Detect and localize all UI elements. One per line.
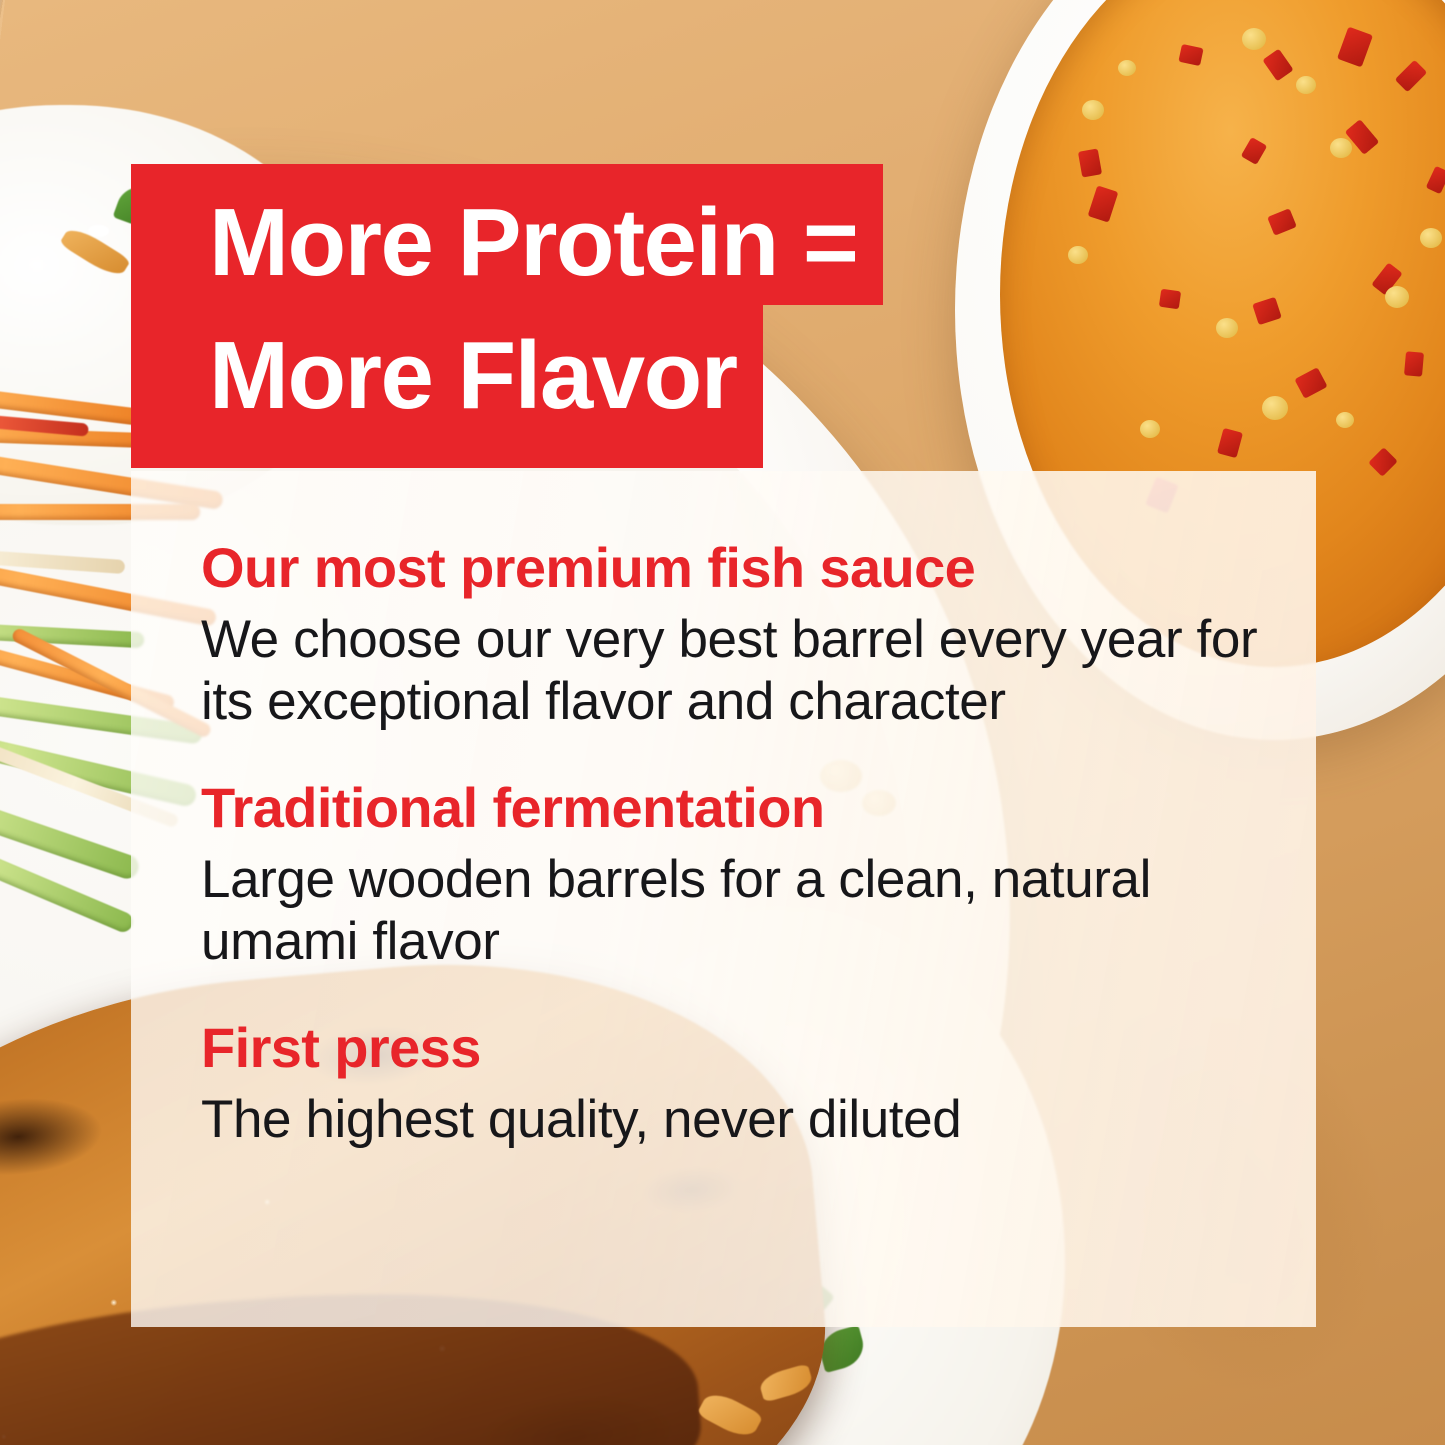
ad-creative-canvas: More Protein = More Flavor Our most prem…	[0, 0, 1445, 1445]
chili-seed	[1118, 60, 1136, 76]
chili-flake	[1078, 148, 1102, 177]
feature-body-first-press: The highest quality, never diluted	[201, 1089, 1316, 1151]
chili-seed	[1420, 228, 1442, 248]
chili-seed	[1068, 246, 1088, 264]
feature-block-premium: Our most premium fish sauce We choose ou…	[201, 533, 1316, 733]
chili-seed	[1336, 412, 1354, 428]
headline-line-2: More Flavor	[131, 305, 763, 468]
chili-seed	[1296, 76, 1316, 94]
chili-seed	[1330, 138, 1352, 158]
chili-seed	[1262, 396, 1288, 420]
chili-seed	[1140, 420, 1160, 438]
headline-line-1: More Protein =	[131, 164, 883, 305]
chili-seed	[1242, 28, 1266, 50]
feature-heading-first-press: First press	[201, 1013, 1316, 1083]
chili-seed	[1082, 100, 1104, 120]
chili-flake	[1159, 289, 1181, 310]
chili-seed	[1216, 318, 1238, 338]
feature-body-premium: We choose our very best barrel every yea…	[201, 609, 1316, 733]
headline-banner: More Protein = More Flavor	[131, 164, 883, 468]
feature-body-fermentation: Large wooden barrels for a clean, natura…	[201, 849, 1316, 973]
feature-block-first-press: First press The highest quality, never d…	[201, 1013, 1316, 1151]
feature-heading-premium: Our most premium fish sauce	[201, 533, 1316, 603]
feature-block-fermentation: Traditional fermentation Large wooden ba…	[201, 773, 1316, 973]
feature-panel: Our most premium fish sauce We choose ou…	[131, 471, 1316, 1327]
feature-heading-fermentation: Traditional fermentation	[201, 773, 1316, 843]
chili-flake	[1404, 351, 1424, 376]
chili-seed	[1385, 286, 1409, 308]
